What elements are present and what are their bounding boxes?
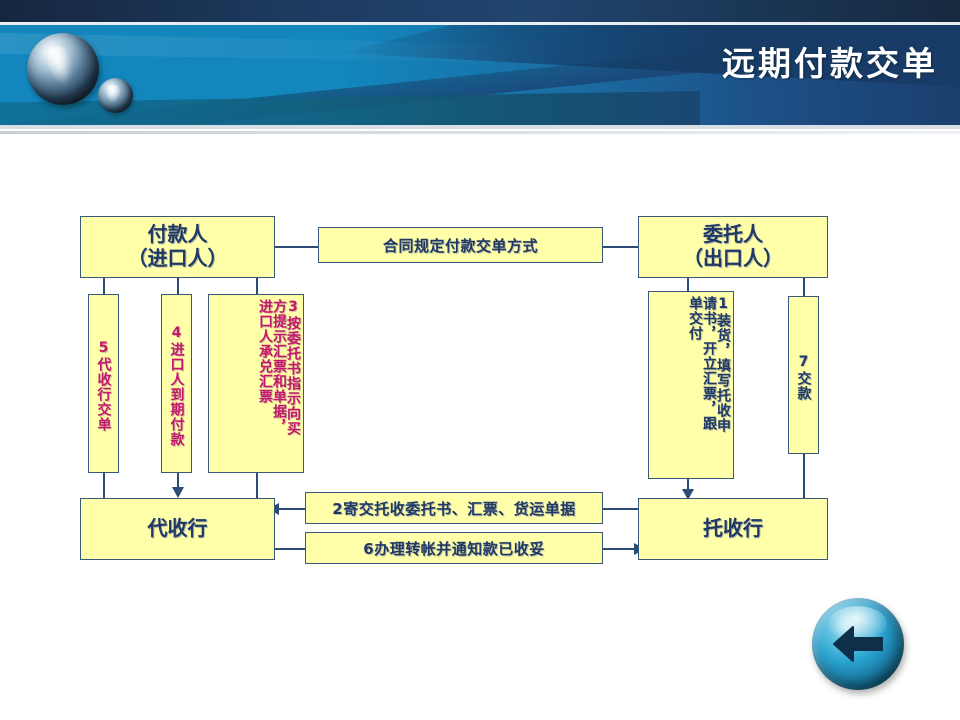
node-payer-line2: （进口人） [128, 246, 228, 270]
label-step7[interactable]: 7交款 [788, 296, 819, 454]
label-step1-col2: 请书，开立汇票，跟 [702, 296, 716, 431]
node-step6-bar[interactable]: 6办理转帐并通知款已收妥 [305, 532, 603, 564]
label-step7-col1: 7交款 [797, 354, 811, 401]
connector-step7-bottom [803, 454, 805, 499]
node-payer-label: 付款人 （进口人） [81, 217, 274, 277]
node-step6-bar-label: 6办理转帐并通知款已收妥 [306, 533, 602, 563]
label-step1-col1: 1装货，填写托收申 [716, 296, 730, 433]
connector-payer-to-contract [273, 246, 318, 248]
node-payer[interactable]: 付款人 （进口人） [80, 216, 275, 278]
back-button[interactable] [812, 598, 904, 690]
node-principal-line2: （出口人） [683, 246, 783, 270]
label-step3[interactable]: 3按委托书指示向买 方提示汇票和单据， 进口人承兑汇票 [208, 294, 304, 473]
chrome-sphere-large-icon [27, 33, 99, 105]
arrowhead-step4-down [172, 487, 184, 498]
connector-step5-top [103, 277, 105, 294]
label-step5[interactable]: 5代收行交单 [88, 294, 119, 473]
connector-step2-left [275, 508, 305, 510]
connector-step1-top [687, 277, 689, 291]
label-step1[interactable]: 1装货，填写托收申 请书，开立汇票，跟 单交付 [648, 291, 734, 479]
label-step1-col3: 单交付 [688, 296, 702, 341]
connector-step4-top [177, 277, 179, 294]
label-step3-col3: 进口人承兑汇票 [258, 299, 272, 404]
node-collecting-bank-label: 代收行 [81, 499, 274, 559]
node-step2-bar[interactable]: 2寄交托收委托书、汇票、货运单据 [305, 492, 603, 524]
node-principal-label: 委托人 （出口人） [639, 217, 827, 277]
connector-step7-top [803, 277, 805, 296]
node-payer-line1: 付款人 [148, 222, 208, 246]
arrow-left-icon [831, 624, 885, 664]
node-contract-terms[interactable]: 合同规定付款交单方式 [318, 227, 603, 263]
node-remitting-bank-label: 托收行 [639, 499, 827, 559]
node-principal-line1: 委托人 [703, 222, 763, 246]
connector-step5-bottom [103, 473, 105, 498]
label-step5-col1: 5代收行交单 [97, 340, 111, 432]
connector-step3-top [256, 277, 258, 294]
node-principal[interactable]: 委托人 （出口人） [638, 216, 828, 278]
slide-header: 远期付款交单 [0, 0, 960, 134]
label-step3-col2: 方提示汇票和单据， [272, 299, 286, 434]
connector-step2-right [602, 508, 638, 510]
header-top-strip [0, 0, 960, 22]
node-contract-terms-label: 合同规定付款交单方式 [319, 228, 602, 262]
node-remitting-bank[interactable]: 托收行 [638, 498, 828, 560]
label-step4-col1: 4进口人到期付款 [170, 325, 184, 447]
page-title: 远期付款交单 [722, 47, 938, 80]
chrome-sphere-small-icon [98, 78, 133, 113]
label-step4[interactable]: 4进口人到期付款 [161, 294, 192, 473]
label-step3-col1: 3按委托书指示向买 [286, 299, 300, 436]
node-step2-bar-label: 2寄交托收委托书、汇票、货运单据 [306, 493, 602, 523]
connector-contract-to-principal [602, 246, 640, 248]
node-collecting-bank[interactable]: 代收行 [80, 498, 275, 560]
connector-step3-bottom [256, 473, 258, 498]
